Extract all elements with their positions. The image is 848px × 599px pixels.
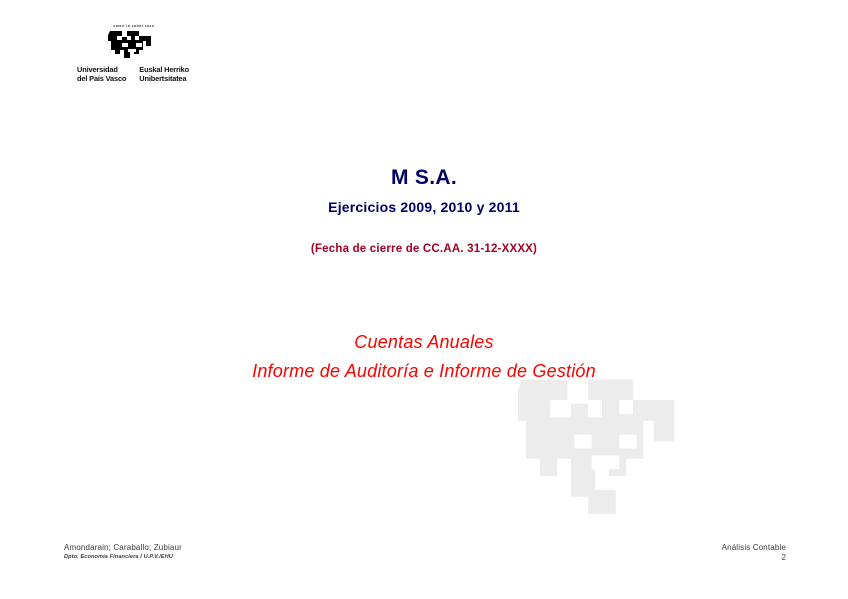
logo-name-basque: Euskal Herriko Unibertsitatea (139, 65, 189, 83)
company-title: M S.A. (0, 166, 848, 190)
footer-page-number: 2 (722, 553, 786, 563)
footer-department: Dpto. Economía Financiera I U.P.V./EHU (64, 553, 182, 562)
footer-authors: Amondarain; Caraballo; Zubiaur (64, 542, 182, 553)
upv-ehu-emblem-icon (108, 29, 156, 61)
university-logo: eman ta zabal zazu Universidad del País … (58, 24, 208, 83)
section-annual-accounts: Cuentas Anuales (0, 332, 848, 353)
fiscal-years-subtitle: Ejercicios 2009, 2010 y 2011 (0, 199, 848, 215)
upv-ehu-emblem-watermark-icon (518, 376, 686, 514)
closing-date-note: (Fecha de cierre de CC.AA. 31-12-XXXX) (0, 243, 848, 255)
footer-course-name: Análisis Contable (722, 542, 786, 553)
footer-left: Amondarain; Caraballo; Zubiaur Dpto. Eco… (64, 542, 182, 562)
footer-right: Análisis Contable 2 (722, 542, 786, 563)
logo-wordmark: Universidad del País Vasco Euskal Herrik… (58, 65, 208, 83)
logo-name-spanish: Universidad del País Vasco (77, 65, 126, 83)
document-page: eman ta zabal zazu Universidad del País … (0, 0, 848, 599)
logo-motto-text: eman ta zabal zazu (108, 24, 160, 29)
section-audit-management-report: Informe de Auditoría e Informe de Gestió… (0, 361, 848, 382)
emblem-watermark (518, 376, 686, 514)
